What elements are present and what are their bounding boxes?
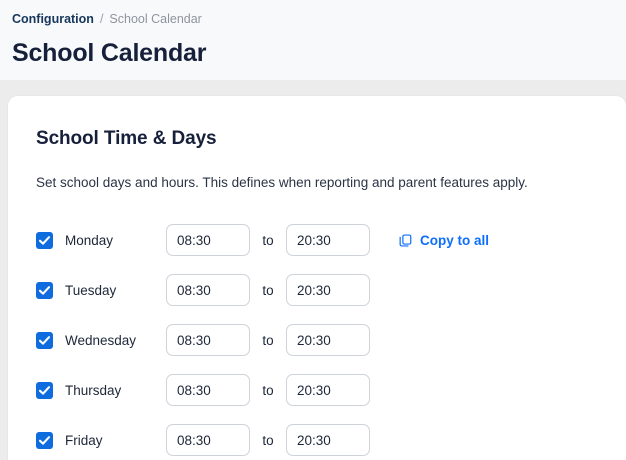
check-glyph-icon bbox=[36, 232, 53, 249]
copy-glyph-icon bbox=[398, 233, 413, 248]
card-title: School Time & Days bbox=[36, 128, 626, 150]
day-label-friday: Friday bbox=[65, 433, 103, 448]
school-time-and-days-card: School Time & Days Set school days and h… bbox=[8, 96, 626, 460]
breadcrumb-current-school-calendar: School Calendar bbox=[109, 11, 201, 27]
day-label-wednesday: Wednesday bbox=[65, 333, 136, 348]
breadcrumb-separator: / bbox=[100, 11, 103, 27]
to-label: to bbox=[260, 233, 276, 248]
day-checkbox-monday[interactable] bbox=[36, 232, 53, 249]
copy-to-all-label: Copy to all bbox=[420, 233, 489, 248]
day-rows-list: MondaytoCopy to allTuesdaytoWednesdaytoT… bbox=[36, 215, 626, 460]
to-label: to bbox=[260, 383, 276, 398]
to-label: to bbox=[260, 433, 276, 448]
day-checkbox-cell: Friday bbox=[36, 432, 166, 449]
end-time-input-wednesday[interactable] bbox=[286, 324, 370, 356]
end-time-input-thursday[interactable] bbox=[286, 374, 370, 406]
check-glyph-icon bbox=[36, 332, 53, 349]
day-checkbox-cell: Wednesday bbox=[36, 332, 166, 349]
card-container: School Time & Days Set school days and h… bbox=[0, 80, 626, 460]
page-title: School Calendar bbox=[12, 38, 626, 68]
day-row: Thursdayto bbox=[36, 365, 626, 415]
to-label: to bbox=[260, 283, 276, 298]
breadcrumb-link-configuration[interactable]: Configuration bbox=[12, 11, 94, 27]
day-checkbox-tuesday[interactable] bbox=[36, 282, 53, 299]
card-description: Set school days and hours. This defines … bbox=[36, 174, 626, 192]
check-glyph-icon bbox=[36, 382, 53, 399]
end-time-input-friday[interactable] bbox=[286, 424, 370, 456]
start-time-input-wednesday[interactable] bbox=[166, 324, 250, 356]
day-checkbox-thursday[interactable] bbox=[36, 382, 53, 399]
start-time-input-tuesday[interactable] bbox=[166, 274, 250, 306]
day-row: Fridayto bbox=[36, 415, 626, 460]
day-label-monday: Monday bbox=[65, 233, 113, 248]
start-time-input-monday[interactable] bbox=[166, 224, 250, 256]
day-row: MondaytoCopy to all bbox=[36, 215, 626, 265]
day-row: Tuesdayto bbox=[36, 265, 626, 315]
end-time-input-tuesday[interactable] bbox=[286, 274, 370, 306]
check-glyph-icon bbox=[36, 432, 53, 449]
copy-to-all-button[interactable]: Copy to all bbox=[398, 233, 489, 248]
day-checkbox-friday[interactable] bbox=[36, 432, 53, 449]
page-header: Configuration / School Calendar School C… bbox=[0, 0, 626, 80]
check-glyph-icon bbox=[36, 282, 53, 299]
copy-icon bbox=[398, 233, 413, 248]
day-checkbox-wednesday[interactable] bbox=[36, 332, 53, 349]
to-label: to bbox=[260, 333, 276, 348]
start-time-input-thursday[interactable] bbox=[166, 374, 250, 406]
day-row: Wednesdayto bbox=[36, 315, 626, 365]
day-checkbox-cell: Thursday bbox=[36, 382, 166, 399]
day-label-thursday: Thursday bbox=[65, 383, 121, 398]
day-checkbox-cell: Monday bbox=[36, 232, 166, 249]
day-checkbox-cell: Tuesday bbox=[36, 282, 166, 299]
breadcrumb: Configuration / School Calendar bbox=[12, 8, 626, 27]
start-time-input-friday[interactable] bbox=[166, 424, 250, 456]
day-label-tuesday: Tuesday bbox=[65, 283, 116, 298]
end-time-input-monday[interactable] bbox=[286, 224, 370, 256]
